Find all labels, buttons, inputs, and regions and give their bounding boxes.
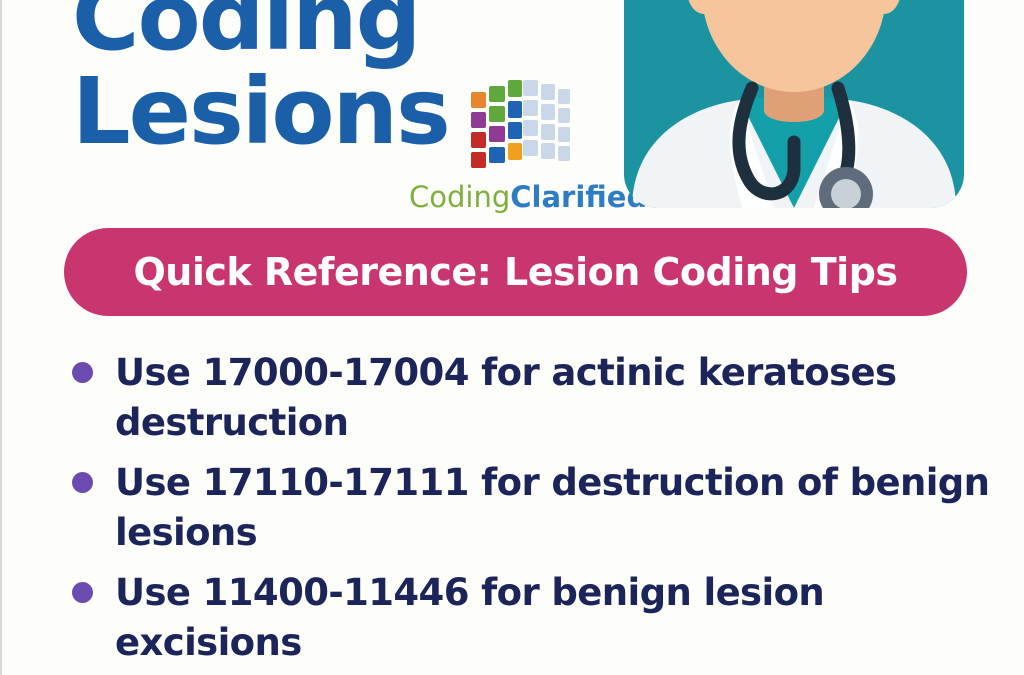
list-item: Use 11400-11446 for benign lesion excisi… (72, 568, 1017, 668)
list-item: Use 17000-17004 for actinic keratoses de… (72, 348, 1017, 448)
quick-reference-banner-text: Quick Reference: Lesion Coding Tips (133, 250, 897, 294)
list-item-label: Use 11400-11446 for benign lesion excisi… (115, 568, 1000, 668)
lesion-coding-tips-list: Use 17000-17004 for actinic keratoses de… (72, 348, 1017, 675)
list-item-label: Use 17110-17111 for destruction of benig… (115, 458, 1000, 558)
page-title-line-1: Coding (72, 0, 492, 64)
bullet-icon (72, 362, 93, 383)
list-item-label: Use 17000-17004 for actinic keratoses de… (115, 348, 1000, 448)
page-title-line-2: Lesions (72, 66, 492, 158)
page-title: Coding Lesions (72, 0, 492, 158)
bullet-icon (72, 582, 93, 603)
brand-word-coding: Coding (409, 180, 510, 214)
bullet-icon (72, 472, 93, 493)
brand-logo: CodingClarified (457, 72, 637, 180)
quick-reference-banner: Quick Reference: Lesion Coding Tips (64, 228, 967, 316)
list-item: Use 17110-17111 for destruction of benig… (72, 458, 1017, 558)
brand-wordmark: CodingClarified (409, 180, 647, 214)
infographic-page: Coding Lesions (0, 0, 1024, 675)
doctor-avatar-illustration (624, 0, 964, 208)
coding-clarified-cube-icon (465, 72, 573, 180)
